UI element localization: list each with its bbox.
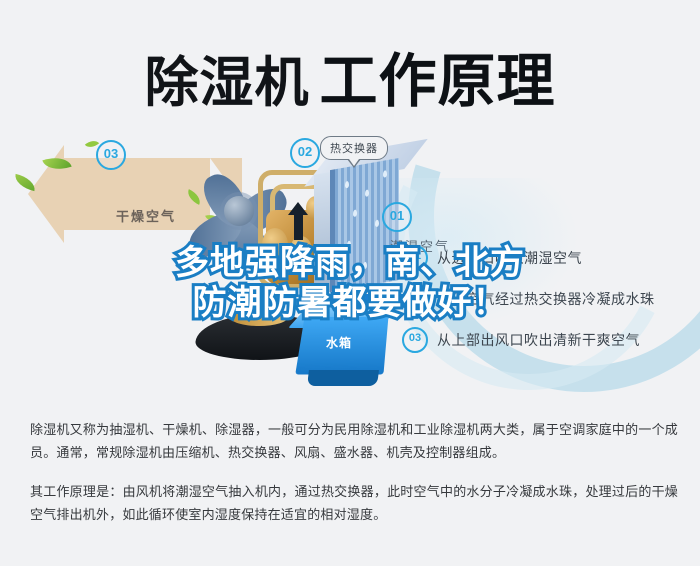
step-text-02: 潮湿空气经过热交换器冷凝成水珠 [437, 289, 655, 309]
title-part-dehumidifier: 除湿机 [144, 51, 309, 114]
title-part-working-principle: 工作原理 [319, 47, 555, 115]
step-list: 01 从进风口吹入潮湿空气 02 潮湿空气经过热交换器冷凝成水珠 03 从上部出… [402, 246, 692, 369]
water-tank-bottom [307, 370, 379, 386]
infographic-page: 除湿机工作原理 干燥空气 [0, 0, 700, 566]
body-copy: 除湿机又称为抽湿机、干燥机、除湿器，一般可分为民用除湿机和工业除湿机两大类，属于… [30, 418, 678, 542]
list-item: 01 从进风口吹入潮湿空气 [402, 246, 692, 270]
diagram-badge-02: 02 [290, 138, 320, 168]
water-tank-label: 水箱 [326, 334, 352, 351]
heat-exchanger-callout: 热交换器 [320, 136, 388, 160]
list-item: 03 从上部出风口吹出清新干爽空气 [402, 328, 692, 352]
coil-blob [290, 236, 312, 264]
list-item: 02 潮湿空气经过热交换器冷凝成水珠 [402, 287, 692, 311]
coil-blob [262, 228, 288, 262]
step-number-02: 02 [402, 286, 428, 312]
paragraph-principle: 其工作原理是：由风机将潮湿空气抽入机内，通过热交换器，此时空气中的水分子冷凝成水… [30, 480, 678, 526]
page-title: 除湿机工作原理 [0, 34, 700, 118]
step-number-03: 03 [402, 327, 428, 353]
illustration-stage: 干燥空气 [0, 118, 700, 403]
fan-hub [224, 196, 254, 226]
step-number-01: 01 [402, 245, 428, 271]
diagram-badge-01: 01 [382, 202, 412, 232]
paragraph-definition: 除湿机又称为抽湿机、干燥机、除湿器，一般可分为民用除湿机和工业除湿机两大类，属于… [30, 418, 678, 464]
step-text-03: 从上部出风口吹出清新干爽空气 [437, 330, 640, 350]
dry-air-label: 干燥空气 [116, 206, 176, 225]
diagram-badge-03: 03 [96, 140, 126, 170]
step-text-01: 从进风口吹入潮湿空气 [437, 248, 582, 268]
internal-airflow-arrow-up-icon [294, 214, 303, 240]
base-ring [230, 308, 288, 326]
